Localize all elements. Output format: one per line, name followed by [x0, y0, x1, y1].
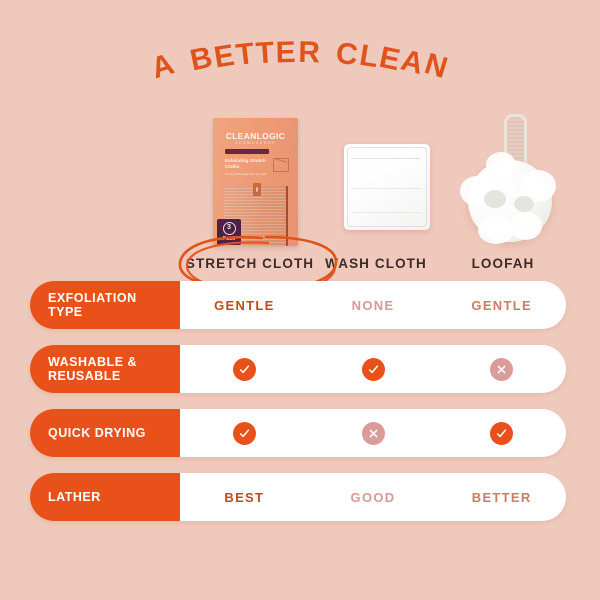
cloth-hang-tag-icon: [253, 183, 261, 196]
row-label-text: LATHER: [30, 490, 101, 505]
cross-icon: [362, 422, 385, 445]
cell-value: GENTLE: [471, 298, 532, 313]
table-cell: [437, 358, 566, 381]
cell-value: GOOD: [351, 490, 396, 505]
column-header-loofah: LOOFAH: [418, 256, 588, 271]
package-window-icon: [273, 158, 289, 172]
row-cells: BESTGOODBETTER: [180, 473, 566, 521]
loofah-mesh-lobe: [510, 212, 542, 240]
package-brand-sub-text: DERMASUEDE: [213, 141, 298, 145]
check-icon: [233, 358, 256, 381]
cell-value: NONE: [352, 298, 395, 313]
title-letter: T: [255, 36, 277, 71]
loofah-mesh-shade: [514, 196, 534, 212]
infographic-canvas: ABETTERCLEAN CLEANLOGIC DERMASUEDE Exfol…: [0, 0, 600, 600]
table-row: EXFOLIATION TYPEGENTLENONEGENTLE: [30, 281, 566, 329]
row-label-text: WASHABLE & REUSABLE: [30, 355, 137, 384]
column-header-row: STRETCH CLOTH WASH CLOTH LOOFAH: [0, 256, 600, 280]
row-label-lather: LATHER: [30, 473, 180, 521]
cell-value: BETTER: [472, 490, 532, 505]
cell-value: GENTLE: [214, 298, 275, 313]
pack-count-label: Pack: [223, 236, 235, 242]
loofah-mesh-shade: [484, 190, 506, 208]
row-cells: GENTLENONEGENTLE: [180, 281, 566, 329]
title-letter: T: [234, 37, 257, 73]
table-cell: GENTLE: [180, 298, 309, 313]
cross-icon: [490, 358, 513, 381]
loofah-mesh-lobe: [486, 152, 516, 178]
row-cells: [180, 345, 566, 393]
table-cell: [309, 422, 438, 445]
pack-count-number: 3: [223, 222, 236, 235]
table-cell: [180, 422, 309, 445]
table-cell: BETTER: [437, 490, 566, 505]
title-letter: E: [276, 36, 298, 70]
table-cell: [437, 422, 566, 445]
product-image-loofah: [462, 112, 558, 246]
package-brand-text: CLEANLOGIC: [213, 131, 298, 141]
package-product-name: Exfoliating Stretch Cloths: [225, 158, 273, 170]
product-image-stretch-cloth: CLEANLOGIC DERMASUEDE Exfoliating Stretc…: [213, 118, 298, 246]
product-image-row: CLEANLOGIC DERMASUEDE Exfoliating Stretc…: [0, 112, 600, 252]
table-cell: GOOD: [309, 490, 438, 505]
table-cell: [180, 358, 309, 381]
check-icon: [233, 422, 256, 445]
table-cell: NONE: [309, 298, 438, 313]
table-cell: BEST: [180, 490, 309, 505]
title-letter: E: [212, 39, 238, 76]
page-title: ABETTERCLEAN: [0, 36, 600, 108]
package-description: Gently buffs away dull, dry skin: [225, 172, 271, 176]
table-cell: GENTLE: [437, 298, 566, 313]
loofah-mesh-lobe: [478, 216, 514, 244]
title-letter: R: [298, 36, 321, 71]
cell-value: BEST: [224, 490, 264, 505]
row-label-exfoliation-type: EXFOLIATION TYPE: [30, 281, 180, 329]
title-letter: C: [334, 37, 360, 73]
row-label-text: QUICK DRYING: [30, 426, 146, 441]
check-icon: [490, 422, 513, 445]
product-image-wash-cloth: [344, 144, 430, 230]
pack-count-badge: 3 Pack: [217, 219, 241, 245]
row-cells: [180, 409, 566, 457]
table-row: QUICK DRYING: [30, 409, 566, 457]
check-icon: [362, 358, 385, 381]
table-row: WASHABLE & REUSABLE: [30, 345, 566, 393]
row-label-quick-drying: QUICK DRYING: [30, 409, 180, 457]
table-row: LATHERBESTGOODBETTER: [30, 473, 566, 521]
table-cell: [309, 358, 438, 381]
row-label-washable-reusable: WASHABLE & REUSABLE: [30, 345, 180, 393]
title-letter: A: [148, 47, 180, 86]
comparison-table: EXFOLIATION TYPEGENTLENONEGENTLEWASHABLE…: [0, 281, 600, 537]
row-label-text: EXFOLIATION TYPE: [30, 291, 137, 320]
package-accent-bar: [225, 149, 269, 154]
